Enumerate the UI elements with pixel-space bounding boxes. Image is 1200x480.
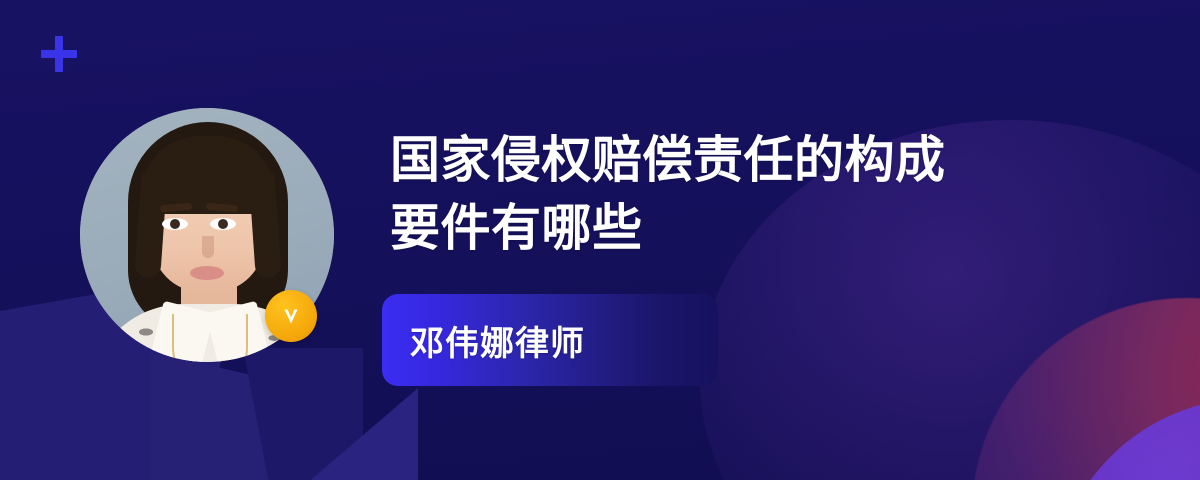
background-circle-magenta [972, 298, 1200, 480]
portrait-eye-left [162, 218, 188, 230]
portrait-nose [202, 236, 214, 258]
avatar[interactable] [62, 90, 352, 380]
background-circle-violet [1052, 398, 1200, 480]
background-facet-shape [278, 388, 418, 480]
plus-icon [41, 36, 77, 72]
portrait-lips [190, 266, 224, 280]
lawyer-name-badge[interactable]: 邓伟娜律师 [382, 294, 718, 386]
headline-block: 国家侵权赔偿责任的构成 要件有哪些 [390, 126, 1090, 262]
lawyer-qa-banner: 国家侵权赔偿责任的构成 要件有哪些 邓伟娜律师 [0, 0, 1200, 480]
plus-icon-vertical-bar [55, 36, 63, 72]
lawyer-name-label: 邓伟娜律师 [382, 316, 585, 365]
page-title: 国家侵权赔偿责任的构成 要件有哪些 [390, 126, 1090, 262]
portrait-necklace [172, 314, 248, 362]
verified-badge-icon [265, 290, 317, 342]
portrait-eye-right [210, 218, 236, 230]
